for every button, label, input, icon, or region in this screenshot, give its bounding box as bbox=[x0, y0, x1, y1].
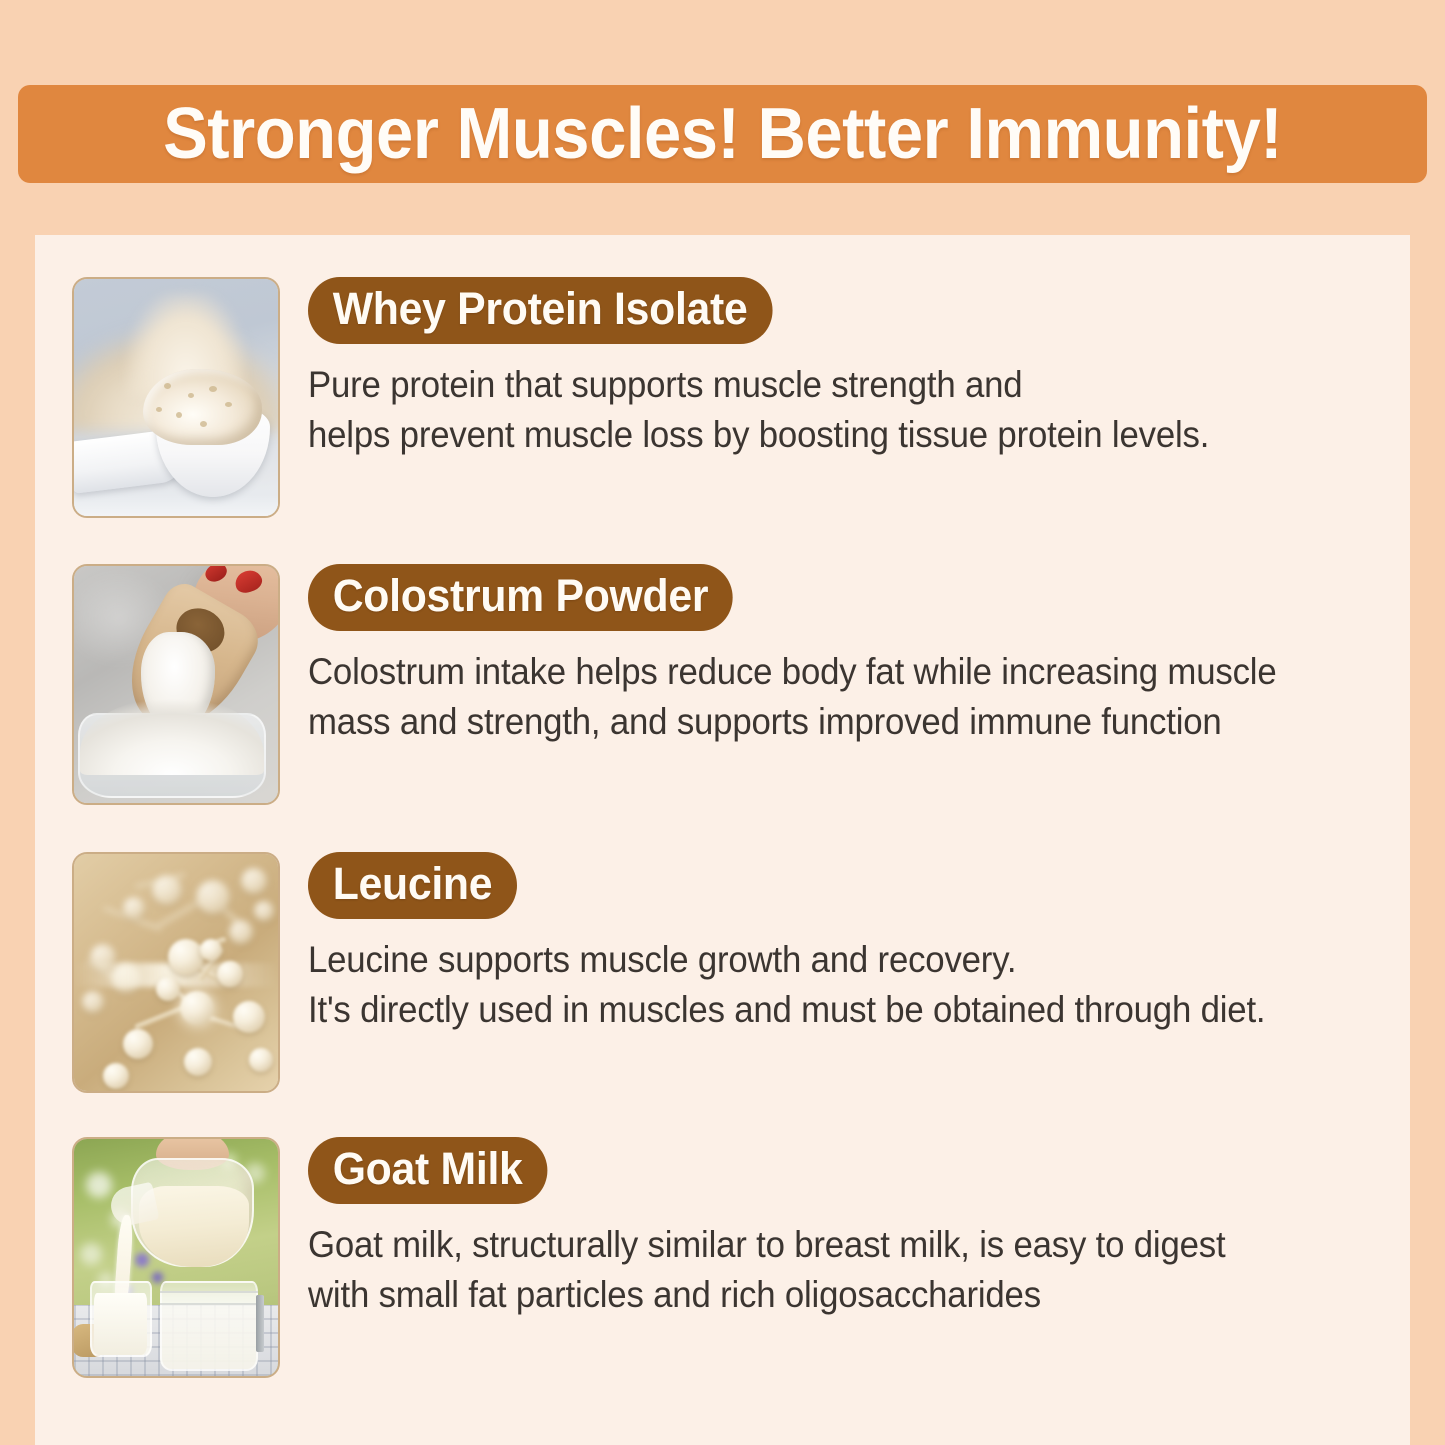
description-line: helps prevent muscle loss by boosting ti… bbox=[308, 410, 1344, 460]
colostrum-powder-scoop-thumbnail bbox=[72, 564, 280, 805]
goat-milk-pouring-thumbnail bbox=[72, 1137, 280, 1378]
description-line: Colostrum intake helps reduce body fat w… bbox=[308, 647, 1344, 697]
ingredients-card: Whey Protein Isolate Pure protein that s… bbox=[35, 235, 1410, 1445]
whey-protein-scoop-thumbnail bbox=[72, 277, 280, 518]
ingredient-text-leucine: Leucine Leucine supports muscle growth a… bbox=[280, 852, 1410, 1035]
description-line: mass and strength, and supports improved… bbox=[308, 697, 1344, 747]
ingredient-title-goat-milk: Goat Milk bbox=[308, 1137, 547, 1204]
description-line: It's directly used in muscles and must b… bbox=[308, 985, 1344, 1035]
ingredient-row-colostrum-powder: Colostrum Powder Colostrum intake helps … bbox=[35, 564, 1410, 852]
ingredient-title-colostrum-powder: Colostrum Powder bbox=[308, 564, 733, 631]
description-line: Goat milk, structurally similar to breas… bbox=[308, 1220, 1344, 1270]
header-banner: Stronger Muscles! Better Immunity! bbox=[18, 85, 1427, 183]
goat-milk-pouring-image bbox=[74, 1139, 278, 1376]
ingredient-row-goat-milk: Goat Milk Goat milk, structurally simila… bbox=[35, 1137, 1410, 1437]
ingredient-text-colostrum-powder: Colostrum Powder Colostrum intake helps … bbox=[280, 564, 1410, 747]
ingredient-text-goat-milk: Goat Milk Goat milk, structurally simila… bbox=[280, 1137, 1410, 1320]
ingredient-text-whey-protein-isolate: Whey Protein Isolate Pure protein that s… bbox=[280, 277, 1410, 460]
colostrum-powder-scoop-image bbox=[74, 566, 278, 803]
description-line: with small fat particles and rich oligos… bbox=[308, 1270, 1344, 1320]
ingredient-description-colostrum-powder: Colostrum intake helps reduce body fat w… bbox=[308, 647, 1344, 747]
ingredient-description-goat-milk: Goat milk, structurally similar to breas… bbox=[308, 1220, 1344, 1320]
leucine-molecule-thumbnail bbox=[72, 852, 280, 1093]
description-line: Pure protein that supports muscle streng… bbox=[308, 360, 1344, 410]
page-title: Stronger Muscles! Better Immunity! bbox=[163, 98, 1282, 170]
ingredient-description-leucine: Leucine supports muscle growth and recov… bbox=[308, 935, 1344, 1035]
ingredient-description-whey-protein-isolate: Pure protein that supports muscle streng… bbox=[308, 360, 1344, 460]
ingredient-row-leucine: Leucine Leucine supports muscle growth a… bbox=[35, 852, 1410, 1137]
leucine-molecule-image bbox=[74, 854, 278, 1091]
ingredient-row-whey-protein-isolate: Whey Protein Isolate Pure protein that s… bbox=[35, 277, 1410, 564]
description-line: Leucine supports muscle growth and recov… bbox=[308, 935, 1344, 985]
whey-protein-scoop-image bbox=[74, 279, 278, 516]
ingredient-title-leucine: Leucine bbox=[308, 852, 517, 919]
ingredient-title-whey-protein-isolate: Whey Protein Isolate bbox=[308, 277, 772, 344]
